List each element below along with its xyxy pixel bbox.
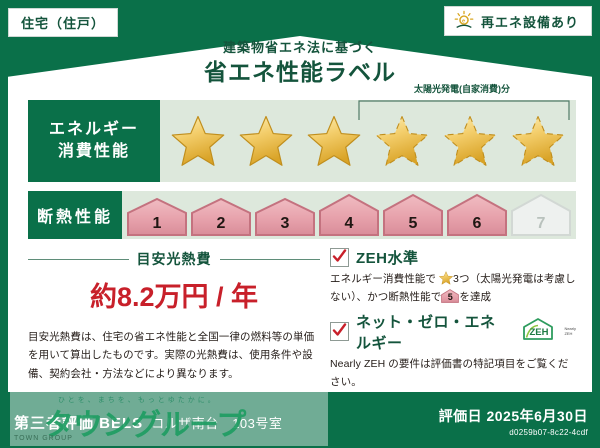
- star-icon-solar: [443, 114, 497, 168]
- pv-bracket-icon: [358, 99, 570, 121]
- star-icon-solid: [307, 114, 361, 168]
- net-zero-energy-item: ネット・ゼロ・エネルギー ZEH Nearly ZEH: [330, 311, 576, 392]
- sun-icon: e: [453, 10, 475, 32]
- label-footer: 第三者評価 BELS コルザ南台 103号室 評価日 2025年6月30日 d0…: [0, 398, 600, 448]
- energy-stars-zone: 太陽光発電(自家消費)分: [160, 100, 576, 182]
- star-icon-solid: [171, 114, 225, 168]
- document-id: d0259b07-8c22-4cdf: [439, 428, 588, 437]
- zeh-body-part3: を達成: [459, 291, 491, 303]
- energy-caption-line2: 消費性能: [58, 141, 130, 163]
- grade-badge-1: 1: [126, 197, 188, 237]
- footer-left: 第三者評価 BELS コルザ南台 103号室: [14, 412, 282, 433]
- net-zero-energy-header: ネット・ゼロ・エネルギー ZEH Nearly ZEH: [330, 311, 576, 353]
- grade-badge-3: 3: [254, 197, 316, 237]
- renewable-equipment-label: 再エネ設備あり: [481, 12, 579, 31]
- grade-number: 2: [190, 215, 252, 233]
- zeh-body-part1: エネルギー消費性能で: [330, 273, 436, 285]
- bels-label: 第三者評価 BELS: [14, 412, 143, 433]
- renewable-equipment-tag: e 再エネ設備あり: [444, 6, 592, 36]
- utility-cost-column: 目安光熱費 約8.2万円 / 年 目安光熱費は、住宅の省エネ性能と全国一律の燃料…: [28, 247, 320, 385]
- grade-number: 4: [318, 215, 380, 233]
- zeh-logo-caption: Nearly ZEH: [564, 327, 576, 336]
- check-icon: [332, 323, 347, 338]
- star-icon-solar: [375, 114, 429, 168]
- dwelling-type-tag: 住宅（住戸）: [8, 8, 118, 37]
- insulation-grade-scale: 1 2 3 4 5: [122, 191, 576, 239]
- svg-text:ZEH: ZEH: [530, 327, 549, 338]
- insulation-performance-row: 断熱性能 1 2 3 4: [28, 191, 576, 239]
- footer-right: 評価日 2025年6月30日 d0259b07-8c22-4cdf: [439, 406, 588, 437]
- evaluation-date: 評価日 2025年6月30日: [439, 406, 588, 426]
- rule-line-right: [220, 259, 321, 260]
- grade-badge-4: 4: [318, 193, 380, 237]
- net-zero-energy-title: ネット・ゼロ・エネルギー: [356, 311, 510, 353]
- star-icon-solar: [511, 114, 565, 168]
- grade-badge-6: 6: [446, 193, 508, 237]
- utility-cost-rule: 目安光熱費: [28, 249, 320, 269]
- insulation-caption: 断熱性能: [28, 191, 122, 239]
- grade-badge-2: 2: [190, 197, 252, 237]
- utility-cost-label: 目安光熱費: [137, 249, 212, 269]
- check-icon: [332, 249, 347, 264]
- utility-cost-note: 目安光熱費は、住宅の省エネ性能と全国一律の燃料等の単価を用いて算出したものです。…: [28, 328, 320, 383]
- zeh-house-logo-icon: ZEH: [521, 317, 555, 346]
- detail-columns: 目安光熱費 約8.2万円 / 年 目安光熱費は、住宅の省エネ性能と全国一律の燃料…: [28, 247, 576, 385]
- certification-column: ZEH水準 エネルギー消費性能で 3つ（太陽光発電は考慮しない）、かつ断熱性能で…: [320, 247, 576, 385]
- grade-number: 6: [446, 215, 508, 233]
- property-address: コルザ南台 103号室: [151, 413, 282, 432]
- grade-badge-7: 7: [510, 193, 572, 237]
- svg-text:e: e: [462, 18, 466, 24]
- grade-badge-inline: 5: [441, 289, 459, 303]
- zeh-standard-title: ZEH水準: [356, 247, 419, 268]
- utility-cost-value: 約8.2万円 / 年: [28, 275, 320, 314]
- grade-number: 7: [510, 215, 572, 233]
- zeh-standard-header: ZEH水準: [330, 247, 576, 268]
- energy-caption-line1: エネルギー: [49, 119, 139, 141]
- label-title: 建築物省エネ法に基づく 省エネ性能ラベル: [0, 40, 600, 86]
- title-main: 省エネ性能ラベル: [0, 58, 600, 87]
- star-icon-solid: [239, 114, 293, 168]
- zeh-standard-item: ZEH水準 エネルギー消費性能で 3つ（太陽光発電は考慮しない）、かつ断熱性能で…: [330, 247, 576, 307]
- grade-number: 5: [382, 215, 444, 233]
- energy-performance-caption: エネルギー 消費性能: [28, 100, 160, 182]
- grade-badge-5: 5: [382, 193, 444, 237]
- energy-performance-label: 住宅（住戸） e 再エネ設備あり 建築物省エネ法に基づく 省エネ性能ラベル: [0, 0, 600, 448]
- checkbox-checked[interactable]: [330, 248, 349, 267]
- net-zero-energy-body: Nearly ZEH の要件は評価書の特記項目をご覧ください。: [330, 356, 576, 392]
- title-subtitle: 建築物省エネ法に基づく: [0, 40, 600, 56]
- grade-number: 1: [126, 215, 188, 233]
- label-body: エネルギー 消費性能 太陽光発電(自家消費)分: [8, 92, 592, 392]
- zeh-logo-caption-line2: ZEH: [564, 331, 572, 336]
- grade-badge-inline-number: 5: [441, 290, 459, 305]
- zeh-standard-body: エネルギー消費性能で 3つ（太陽光発電は考慮しない）、かつ断熱性能で 5 を達成: [330, 271, 576, 307]
- energy-performance-row: エネルギー 消費性能 太陽光発電(自家消費)分: [28, 100, 576, 182]
- checkbox-checked[interactable]: [330, 322, 349, 341]
- grade-number: 3: [254, 215, 316, 233]
- star-icon-inline: [439, 271, 453, 285]
- rule-line-left: [28, 259, 129, 260]
